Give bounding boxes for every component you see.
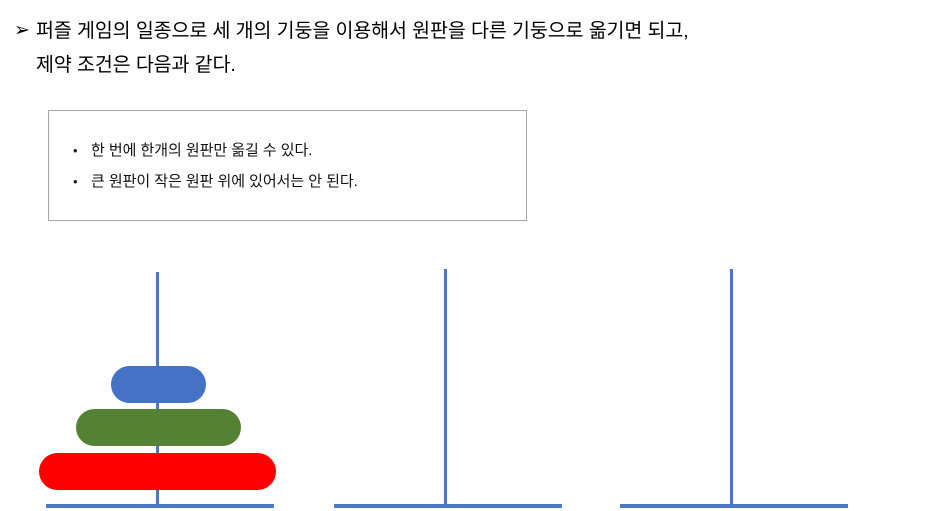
constraints-list: • 한 번에 한개의 원판만 옮길 수 있다. • 큰 원판이 작은 원판 위에…	[49, 111, 526, 197]
tower-of-hanoi-diagram	[0, 255, 927, 511]
constraints-box: • 한 번에 한개의 원판만 옮길 수 있다. • 큰 원판이 작은 원판 위에…	[48, 110, 527, 221]
disk-medium[interactable]	[76, 409, 241, 446]
heading-block: ➢ 퍼즐 게임의 일종으로 세 개의 기둥을 이용해서 원판을 다른 기둥으로 …	[10, 14, 920, 82]
disk-large[interactable]	[39, 453, 276, 490]
peg-rod-peg-2[interactable]	[444, 269, 447, 504]
heading-row: ➢ 퍼즐 게임의 일종으로 세 개의 기둥을 이용해서 원판을 다른 기둥으로 …	[10, 14, 920, 82]
constraint-text: 큰 원판이 작은 원판 위에 있어서는 안 된다.	[91, 166, 526, 197]
list-item: • 큰 원판이 작은 원판 위에 있어서는 안 된다.	[73, 166, 526, 197]
peg-base-peg-3	[620, 504, 848, 508]
peg-base-peg-2	[334, 504, 562, 508]
constraint-text: 한 번에 한개의 원판만 옮길 수 있다.	[91, 135, 526, 166]
heading-text: 퍼즐 게임의 일종으로 세 개의 기둥을 이용해서 원판을 다른 기둥으로 옮기…	[36, 14, 920, 82]
list-item: • 한 번에 한개의 원판만 옮길 수 있다.	[73, 135, 526, 166]
dot-bullet-icon: •	[73, 135, 91, 166]
peg-rod-peg-3[interactable]	[730, 269, 733, 504]
arrow-bullet-icon: ➢	[10, 14, 36, 48]
dot-bullet-icon: •	[73, 166, 91, 197]
disk-small[interactable]	[111, 366, 206, 403]
peg-base-peg-1	[46, 504, 274, 508]
